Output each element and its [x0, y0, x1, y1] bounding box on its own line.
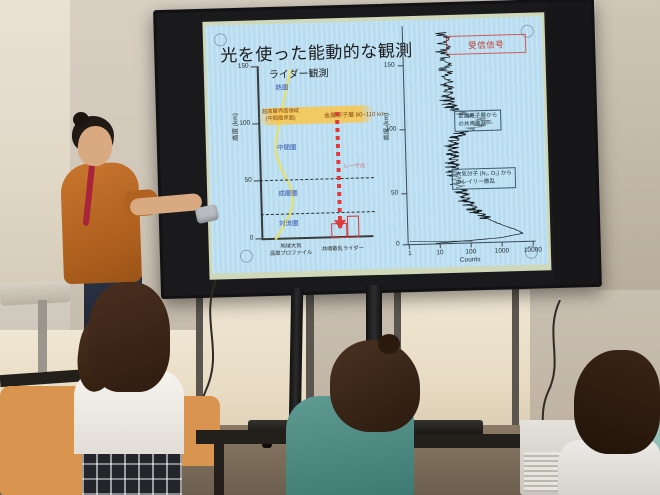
layer-label-troposphere: 対流圏: [279, 217, 299, 228]
presentation-slide: 光を使った能動的な観測 ライダー観測 受信信号 150 100 50 0: [206, 16, 549, 273]
right-xlabel-10000: 10000: [524, 246, 542, 254]
laser-light-label: レーザ光: [343, 161, 365, 170]
window-pane-right: [400, 290, 530, 440]
callout-rayleigh-line1: 大気分子 (N₂, O₂) から: [456, 170, 512, 179]
student-center-hair-tie: [378, 334, 400, 354]
left-y-axis-title: 高度 (km): [229, 113, 240, 141]
left-ylabel-150: 150: [231, 63, 249, 70]
layer-label-stratosphere: 成層圏: [278, 187, 298, 198]
podium-surface: [0, 280, 71, 306]
callout-resonance-line2: の共鳴散乱: [458, 120, 497, 129]
display-monitor[interactable]: 光を使った能動的な観測 ライダー観測 受信信号 150 100 50 0: [153, 0, 602, 299]
lidar-instrument-box-2: [347, 216, 360, 238]
podium-leg: [38, 300, 47, 372]
window-mullion-4: [512, 286, 519, 426]
callout-resonance-line1: 金属原子層から: [458, 113, 497, 122]
right-xlabel-1: 1: [408, 250, 412, 257]
screenshot-root: 光を使った能動的な観測 ライダー観測 受信信号 150 100 50 0: [0, 0, 660, 495]
student-center-hair: [330, 340, 420, 432]
display-signal-cable: [520, 300, 580, 440]
layer-label-mesosphere: 中間圏: [277, 141, 297, 152]
bottom-label-tp-line2: 温度プロファイル: [270, 249, 313, 257]
right-xlabel-1000: 1000: [495, 247, 510, 254]
metal-layer-label: 金属原子層 80~110 km: [324, 109, 385, 120]
ceiling-soffit: [596, 0, 660, 290]
right-xlabel-100: 100: [465, 248, 476, 255]
mesopause-region-line2: (中間圏界面): [262, 115, 299, 123]
student-right-hair: [574, 350, 660, 454]
display-screen[interactable]: 光を使った能動的な観測 ライダー観測 受信信号 150 100 50 0: [202, 12, 551, 279]
mesopause-region-label: 超高層界面領域 (中間圏界面): [262, 108, 299, 123]
right-xlabel-10: 10: [436, 249, 443, 256]
layer-label-thermosphere: 熱圏: [275, 81, 288, 91]
callout-resonance-scattering: 金属原子層から の共鳴散乱: [454, 110, 502, 132]
presenter-torso: [60, 162, 142, 285]
atmosphere-profile-panel: 150 100 50 0 高度 (km) 超高層界面領域: [231, 59, 376, 255]
right-x-axis-title: Counts: [460, 256, 481, 264]
bottom-label-temperature-profile: 地球大気 温度プロファイル: [270, 243, 313, 257]
display-bezel-right: [547, 1, 599, 285]
right-ylabel-150: 150: [377, 61, 395, 68]
bottom-label-resonance-lidar: 共鳴散乱ライダー: [322, 245, 364, 253]
callout-rayleigh-line2: のレイリー散乱: [456, 178, 512, 187]
right-ylabel-50: 50: [380, 189, 398, 196]
student-left-hair: [88, 282, 170, 392]
right-y-axis-title: 高度 (km): [380, 113, 391, 141]
left-ylabel-0: 0: [235, 234, 253, 241]
laser-beam: [335, 112, 342, 228]
received-signal-chart: 150 100 50 0 高度 (km) 1 10 100 1000 10000: [377, 16, 544, 268]
chair-orange-left[interactable]: [0, 386, 84, 495]
left-ylabel-50: 50: [234, 177, 252, 184]
desk-center-leg: [214, 444, 224, 495]
presenter-hair-bun: [73, 112, 89, 127]
lidar-instrument-box-1: [331, 223, 347, 238]
callout-rayleigh-scattering: 大気分子 (N₂, O₂) から のレイリー散乱: [452, 167, 517, 190]
right-ylabel-0: 0: [382, 240, 400, 247]
window-pane-far: [0, 0, 70, 300]
